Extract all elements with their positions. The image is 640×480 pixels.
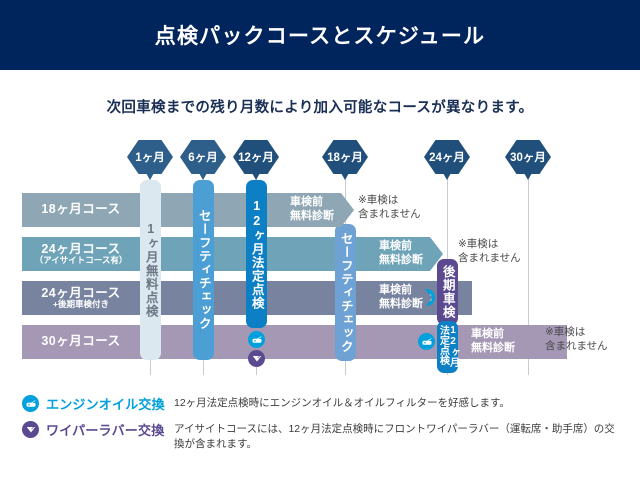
timeline-marker-tail xyxy=(443,173,451,180)
block-label: 12ヶ月法定点検 xyxy=(438,325,458,369)
arrowbox-label: 車検前 無料診断 xyxy=(379,240,423,268)
arrowbox-label: 車検前 無料診断 xyxy=(290,196,334,224)
pre-shaken-diagnosis-30: 車検前 無料診断 xyxy=(462,325,535,359)
block-late-shaken: 後期車検 xyxy=(437,259,458,325)
legend: エンジンオイル交換 12ヶ月法定点検時にエンジンオイル＆オイルフィルターを好感し… xyxy=(22,394,622,459)
timeline-marker-label: 1ヶ月 xyxy=(135,149,164,165)
timeline-marker-tail xyxy=(341,173,349,180)
page-header: 点検パックコースとスケジュール xyxy=(0,0,640,70)
timeline-marker-12: 12ヶ月 xyxy=(233,140,279,174)
block-label: セーフティチェック xyxy=(339,232,352,354)
arrowbox-label: 車検前 無料診断 xyxy=(379,284,423,312)
pre-shaken-diagnosis-24: 車検前 無料診断 xyxy=(370,237,443,271)
pre-shaken-diagnosis-18: 車検前 無料診断 xyxy=(281,193,354,227)
timeline-marker-label: 12ヶ月 xyxy=(238,149,274,165)
schedule-chart: 1ヶ月 6ヶ月 12ヶ月 18ヶ月 24ヶ月 30ヶ月 18ヶ月コース xyxy=(0,135,640,380)
timeline-marker-label: 18ヶ月 xyxy=(327,149,363,165)
timeline-marker-18: 18ヶ月 xyxy=(322,140,368,174)
pre-shaken-diagnosis-24-late: 車検前 無料診断 xyxy=(370,281,432,315)
arrowbox-label: 車検前 無料診断 xyxy=(471,328,515,356)
legend-description: 12ヶ月法定点検時にエンジンオイル＆オイルフィルターを好感します。 xyxy=(174,394,622,411)
block-free-inspection-1m: 1ヶ月無料点検 xyxy=(140,180,161,360)
infographic-page: 点検パックコースとスケジュール 次回車検までの残り月数により加入可能なコースが異… xyxy=(0,0,640,480)
timeline-marker-tail xyxy=(146,173,154,180)
course-label-24-eyesight: 24ヶ月コース （アイサイトコース有） xyxy=(22,237,140,271)
block-label: 12ヶ月法定点検 xyxy=(250,199,263,310)
oil-can-icon xyxy=(248,331,265,348)
timeline-marker-24: 24ヶ月 xyxy=(424,140,470,174)
block-label: 1ヶ月無料点検 xyxy=(144,222,157,318)
legend-title: ワイパーラバー交換 xyxy=(46,420,174,439)
legend-item-wiper-rubber: ワイパーラバー交換 アイサイトコースには、12ヶ月法定点検時にフロントワイパーラ… xyxy=(22,420,622,452)
page-title: 点検パックコースとスケジュール xyxy=(155,20,485,50)
legend-title: エンジンオイル交換 xyxy=(46,394,174,413)
block-label: セーフティチェック xyxy=(197,209,210,331)
note-not-included-24: ※車検は 含まれません xyxy=(458,237,521,265)
course-label-24-late: 24ヶ月コース +後期車検付き xyxy=(22,281,140,315)
subtitle-text: 次回車検までの残り月数により加入可能なコースが異なります。 xyxy=(0,96,640,117)
timeline-marker-label: 6ヶ月 xyxy=(188,149,217,165)
timeline-marker-1: 1ヶ月 xyxy=(127,140,173,174)
timeline-marker-label: 24ヶ月 xyxy=(429,149,465,165)
timeline-marker-6: 6ヶ月 xyxy=(180,140,226,174)
course-label-text: 30ヶ月コース xyxy=(41,335,120,348)
block-safety-check-6m: セーフティチェック xyxy=(193,180,214,360)
block-label: 後期車検 xyxy=(441,265,454,319)
legend-item-engine-oil: エンジンオイル交換 12ヶ月法定点検時にエンジンオイル＆オイルフィルターを好感し… xyxy=(22,394,622,413)
course-label-sub: +後期車検付き xyxy=(53,300,109,309)
timeline-marker-tail xyxy=(524,173,532,180)
oil-can-icon xyxy=(418,333,435,350)
block-safety-check-18m: セーフティチェック xyxy=(335,224,356,361)
course-label-sub: （アイサイトコース有） xyxy=(35,256,128,265)
course-label-text: 18ヶ月コース xyxy=(41,203,120,216)
timeline-marker-tail xyxy=(252,173,260,180)
wiper-icon xyxy=(248,350,265,367)
timeline-marker-tail xyxy=(199,173,207,180)
oil-can-icon xyxy=(22,395,39,412)
note-not-included-30: ※車検は 含まれません xyxy=(545,325,608,353)
block-legal-12m-row4: 12ヶ月法定点検 xyxy=(437,321,458,373)
wiper-icon xyxy=(22,421,39,438)
timeline-marker-30: 30ヶ月 xyxy=(505,140,551,174)
block-legal-12m: 12ヶ月法定点検 xyxy=(246,180,267,328)
course-label-18: 18ヶ月コース xyxy=(22,193,140,227)
legend-description: アイサイトコースには、12ヶ月法定点検時にフロントワイパーラバー（運転席・助手席… xyxy=(174,420,622,452)
timeline-marker-label: 30ヶ月 xyxy=(510,149,546,165)
note-not-included-18: ※車検は 含まれません xyxy=(358,193,421,221)
course-label-30: 30ヶ月コース xyxy=(22,325,140,359)
